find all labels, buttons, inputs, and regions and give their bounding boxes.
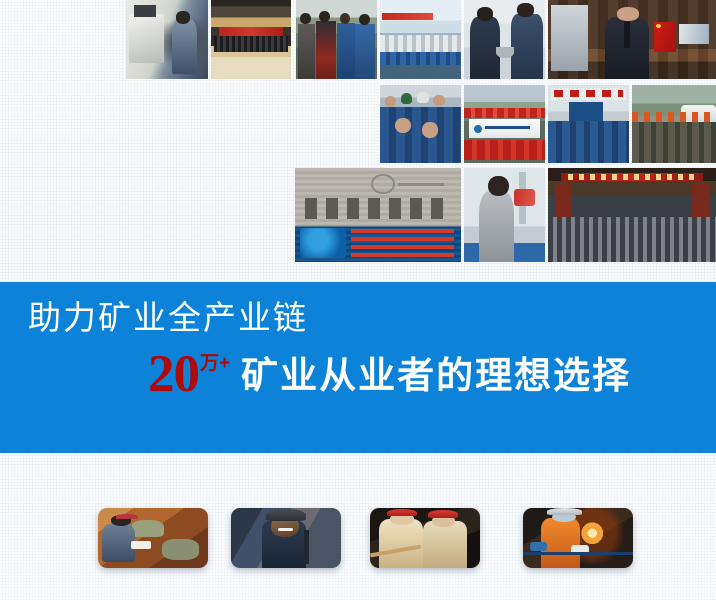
thumb-smelter-helmet xyxy=(547,508,582,515)
photo-signboard-logo-line xyxy=(398,183,444,186)
photo-flotation-cells xyxy=(380,35,461,52)
photo-crew-blue-uniform xyxy=(380,85,461,163)
photo-conference-crowd xyxy=(214,36,288,52)
photo-mine-entrance-group xyxy=(548,85,629,163)
photo-banner-red-placards-top xyxy=(464,108,545,117)
thumb-worker-right-helmet xyxy=(428,510,458,518)
photo-woman-hoisting-flag xyxy=(464,168,545,262)
photo-workers-mountain-group xyxy=(296,0,377,79)
thumb-smelter-rail xyxy=(523,552,633,555)
photo-woman-head xyxy=(488,176,509,197)
promo-banner: 助力矿业全产业链 20万+ 矿业从业者的理想选择 xyxy=(0,282,716,453)
thumb-worker-left-body xyxy=(379,519,423,568)
photo-engineers-testing-sample xyxy=(464,0,545,79)
photo-2017-banner-text xyxy=(568,174,696,180)
thumb-smelter-glove-left xyxy=(530,542,548,552)
photo-banner-logo-circle xyxy=(474,125,482,133)
photo-crew-cap-green xyxy=(401,93,412,104)
photo-crew-head-1 xyxy=(385,96,396,107)
thumb-worker-right-body xyxy=(423,521,467,568)
photo-mountain-person-2 xyxy=(316,21,335,79)
photo-signboard-globe-logo xyxy=(300,228,346,258)
photo-orange-helmets xyxy=(632,112,716,123)
photo-lab-technician-machine xyxy=(126,0,208,79)
photo-engineer-left-body xyxy=(470,17,499,79)
thumbnail-strip xyxy=(0,500,716,600)
thumb-miner-hardhat-portrait[interactable] xyxy=(231,508,341,568)
banner-headline-line2: 20万+ 矿业从业者的理想选择 xyxy=(148,348,631,401)
photo-crew-uniforms xyxy=(380,107,461,163)
photo-helmet-team-bodies xyxy=(632,122,716,163)
photo-lab-machine-shape xyxy=(129,14,163,63)
photo-lab-person-head xyxy=(176,11,190,24)
thumb-miner-smile xyxy=(278,528,292,531)
photo-mountain-head-4 xyxy=(359,14,370,25)
photo-flotation-production-line xyxy=(380,0,461,79)
photo-executive-tie xyxy=(624,21,631,48)
photo-crew-head-2 xyxy=(433,95,444,106)
photo-banner-outdoor-event xyxy=(464,85,545,163)
photo-mine-sign-characters xyxy=(554,90,622,97)
photo-conference-hall-ceremony xyxy=(211,0,291,79)
photo-lab-machine-top xyxy=(134,5,155,18)
banner-number-suffix: 万+ xyxy=(200,348,230,375)
photo-conference-red-banner xyxy=(219,27,283,36)
photo-mountain-person-3 xyxy=(337,23,356,79)
photo-executive-head xyxy=(617,7,639,20)
photo-flotation-base xyxy=(380,52,461,65)
photo-signboard-subsidiary-list xyxy=(351,229,454,257)
photo-crew-cap-white xyxy=(417,92,428,103)
thumb-geologist-rock-2 xyxy=(162,539,199,559)
photo-signboard-logo-mark xyxy=(371,174,394,195)
photo-company-signboard xyxy=(295,168,461,262)
banner-headline-line1: 助力矿业全产业链 xyxy=(28,298,308,338)
photo-mountain-head-1 xyxy=(300,13,311,24)
photo-mountain-head-2 xyxy=(319,11,330,22)
photo-mountain-person-4 xyxy=(355,24,374,79)
photo-executive-office-flag xyxy=(548,0,716,79)
photo-woman-body xyxy=(479,191,515,262)
photo-banner-red-placards-bottom xyxy=(464,140,545,160)
banner-headline-line2-text: 矿业从业者的理想选择 xyxy=(241,356,631,396)
photo-2017-pillar-left xyxy=(555,183,572,221)
photo-flag-red-cloth xyxy=(514,189,535,206)
thumb-smelting-furnace-worker[interactable] xyxy=(523,508,633,568)
photo-mine-doorway xyxy=(569,102,603,121)
photo-mountain-head-3 xyxy=(340,13,351,24)
photo-2017-conference-group xyxy=(548,168,716,262)
thumb-geologist-field-survey[interactable] xyxy=(98,508,208,568)
photo-signboard-characters xyxy=(305,198,451,219)
photo-crew-head-front-2 xyxy=(422,122,438,138)
photo-crew-head-front-1 xyxy=(395,118,411,134)
thumb-worker-left-helmet xyxy=(387,509,418,517)
photo-lab-person-shape xyxy=(172,19,197,74)
photo-mountain-person-1 xyxy=(298,24,316,79)
photo-engineer-right-body xyxy=(511,14,543,79)
thumb-miner-helmet xyxy=(266,509,306,521)
photo-company-flag xyxy=(679,24,709,45)
thumb-geologist-notebook xyxy=(131,541,151,549)
thumb-female-workers-helmets[interactable] xyxy=(370,508,480,568)
photo-office-monitor xyxy=(551,5,588,71)
photo-banner-text-line xyxy=(485,126,530,129)
photo-2017-pillar-right xyxy=(692,183,709,221)
photo-engineer-left-head xyxy=(477,7,493,20)
photo-engineer-right-head xyxy=(517,3,534,16)
photo-helmet-team-van xyxy=(632,85,716,163)
thumb-geologist-red-cap xyxy=(116,514,138,519)
photo-2017-crowd xyxy=(548,217,716,262)
banner-big-number: 20 xyxy=(148,348,199,401)
photo-collage xyxy=(0,0,716,265)
thumb-miner-tool-handle xyxy=(304,530,310,565)
photo-mine-crew-row xyxy=(548,121,629,163)
photo-flotation-red-sign xyxy=(382,13,434,20)
thumb-geologist-rock-1 xyxy=(131,520,164,537)
